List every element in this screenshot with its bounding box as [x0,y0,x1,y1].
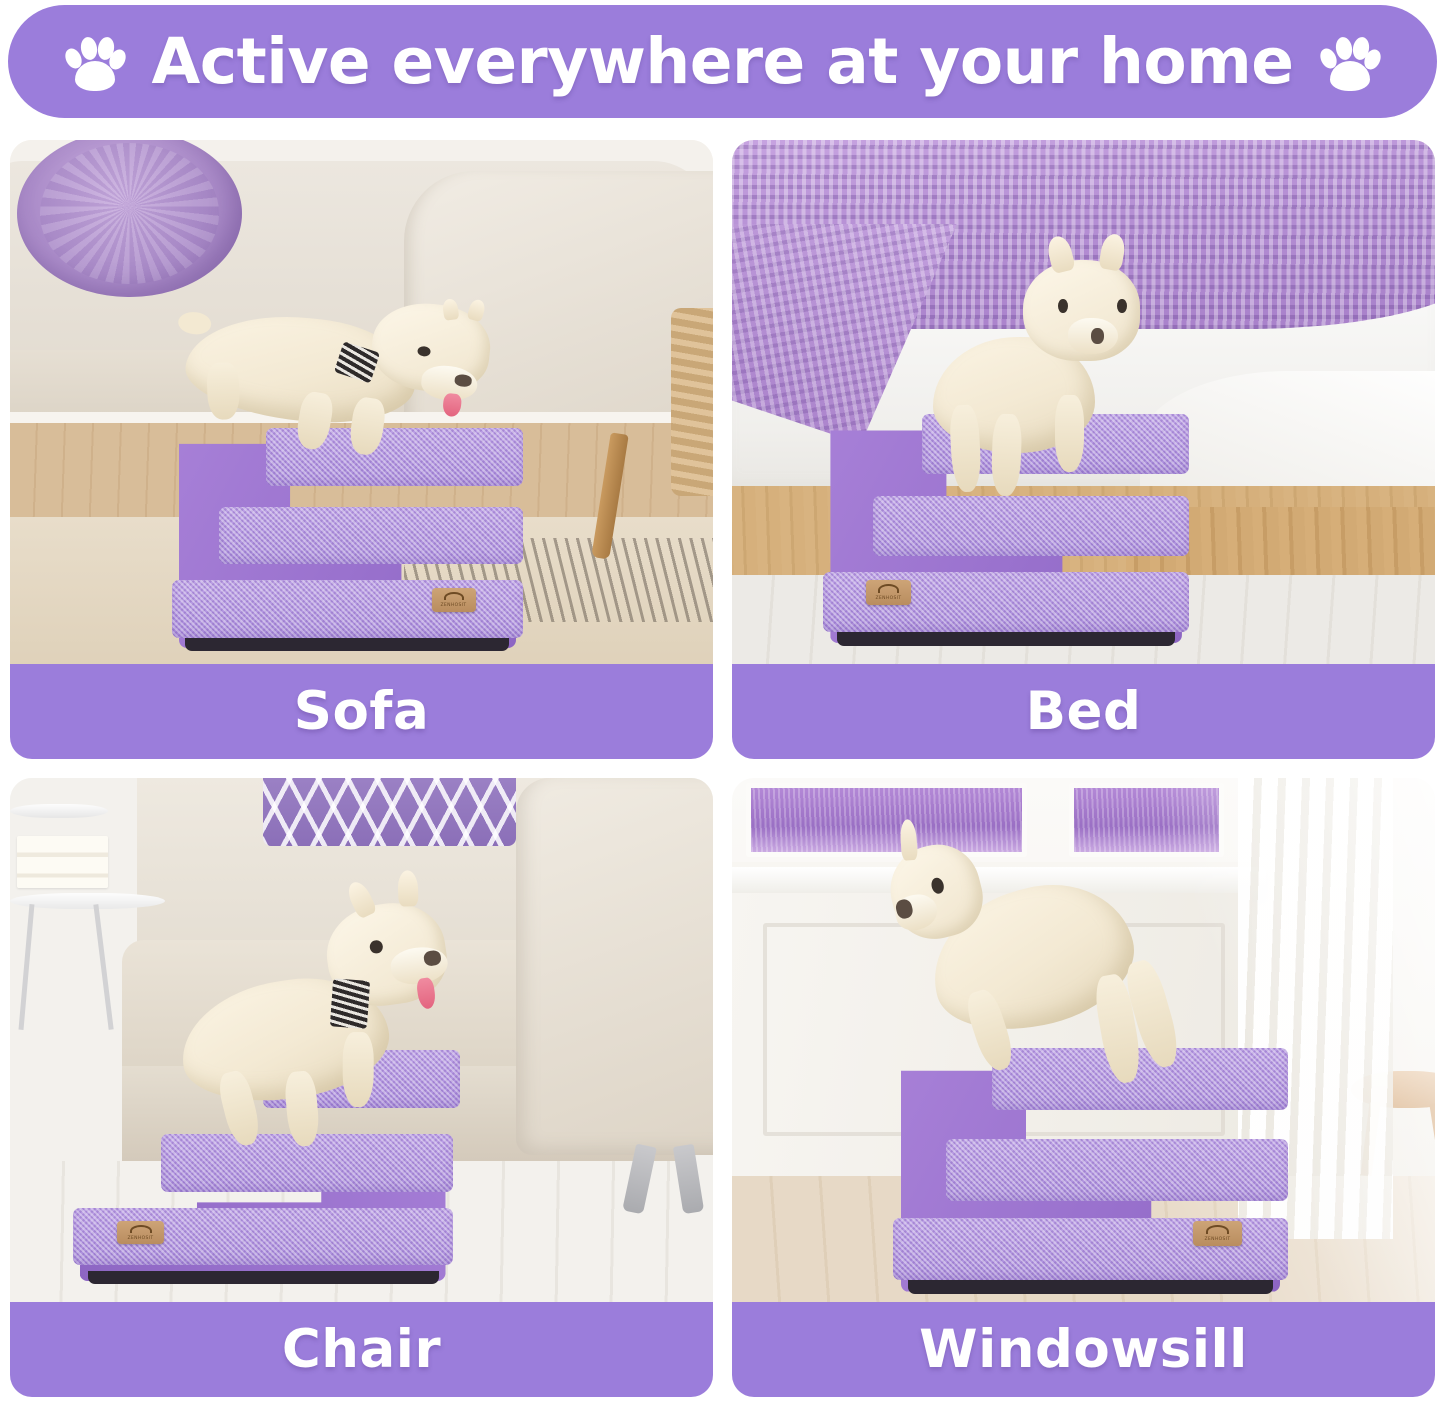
scene-card-chair: ZENHOSIT [10,778,713,1397]
header-title: Active everywhere at your home [152,25,1294,98]
scene-label-bar-windowsill: Windowsill [732,1302,1435,1397]
scene-label-bar-sofa: Sofa [10,664,713,759]
scene-label-bar-chair: Chair [10,1302,713,1397]
paw-print-icon-right [1319,31,1381,93]
scene-card-sofa: ZENHOSIT [10,140,713,759]
dog-illustration [165,896,474,1153]
brand-tag: ZENHOSIT [432,588,476,612]
scene-photo-sofa: ZENHOSIT [10,140,713,664]
brand-tag: ZENHOSIT [117,1221,165,1245]
scene-label-chair: Chair [282,1319,441,1380]
brand-tag: ZENHOSIT [1193,1221,1242,1246]
scene-photo-bed: ZENHOSIT [732,140,1435,664]
header-banner: Active everywhere at your home [8,5,1437,118]
brand-tag: ZENHOSIT [866,580,912,605]
purple-geometric-cushion [263,778,516,846]
scene-photo-windowsill: ZENHOSIT [732,778,1435,1302]
infographic-page: Active everywhere at your home [0,0,1445,1418]
scene-label-bar-bed: Bed [732,664,1435,759]
dog-illustration [178,272,489,470]
scene-grid: ZENHOSIT [10,140,1435,1408]
scene-card-bed: ZENHOSIT [732,140,1435,759]
scene-label-windowsill: Windowsill [919,1319,1248,1380]
scene-card-windowsill: ZENHOSIT Windowsill [732,778,1435,1397]
stacked-books [17,836,108,888]
paw-print-icon-left [64,31,126,93]
scene-label-sofa: Sofa [294,681,429,742]
dog-illustration [929,255,1154,496]
scene-photo-chair: ZENHOSIT [10,778,713,1302]
scene-label-bed: Bed [1026,681,1142,742]
